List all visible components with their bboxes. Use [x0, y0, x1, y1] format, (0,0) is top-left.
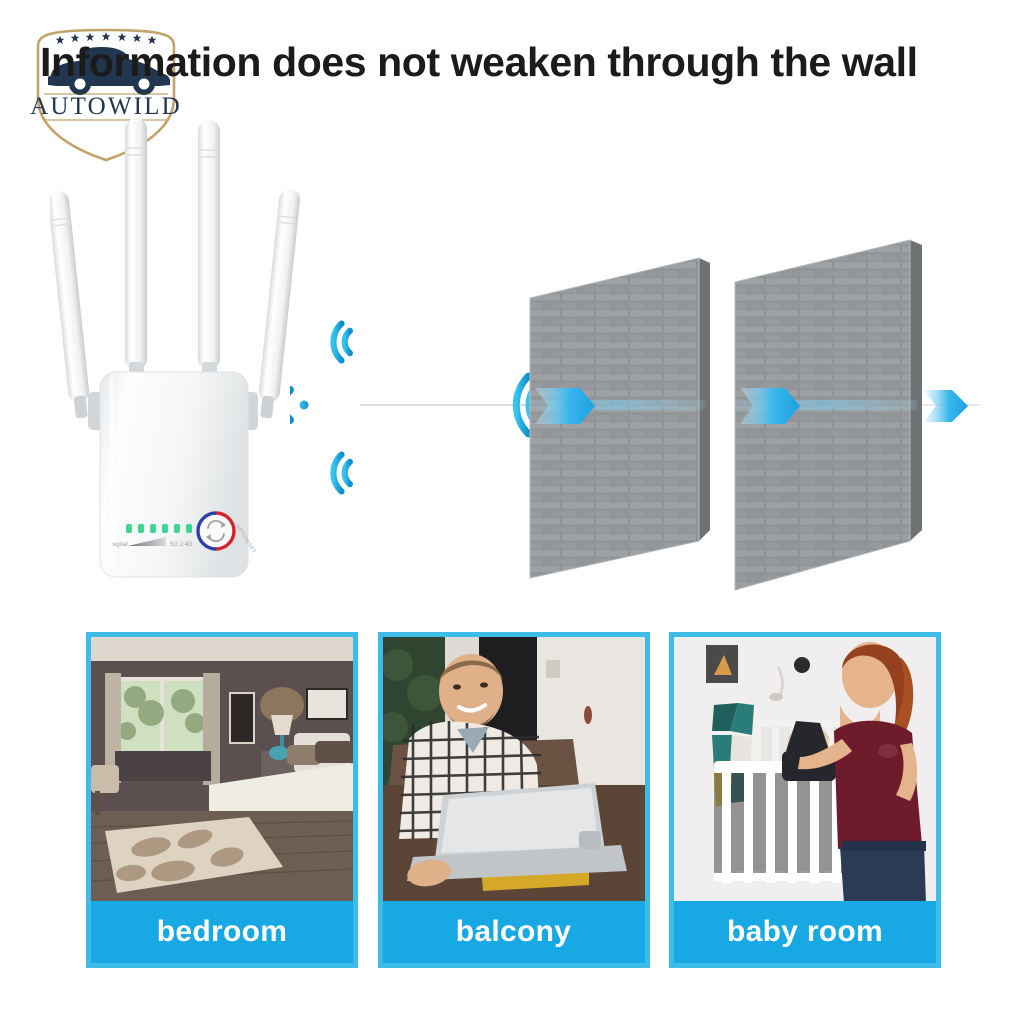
- antenna-outer-left: [50, 190, 92, 419]
- room-scenario-cards: bedroom: [86, 632, 941, 968]
- antenna-inner-right: [198, 120, 220, 380]
- product-marketing-image: AUTOWILD Information does not weaken thr…: [0, 0, 1024, 1024]
- card-label-balcony: balcony: [383, 901, 645, 963]
- balcony-photo: [383, 637, 645, 901]
- wifi-icon-upper: [333, 324, 349, 361]
- arrow-exit: [924, 390, 968, 422]
- baby-room-photo: [674, 637, 936, 901]
- wifi-icon-lower: [333, 455, 349, 492]
- wps-button[interactable]: [197, 512, 235, 550]
- bedroom-photo: [91, 637, 353, 901]
- card-bedroom[interactable]: bedroom: [86, 632, 358, 968]
- wifi-extender-product: signal 5G 2.4G WPS/RESET: [50, 110, 310, 590]
- antenna-inner-left: [125, 118, 147, 380]
- signal-label: signal: [112, 542, 128, 548]
- through-wall-signal-diagram: [290, 230, 990, 600]
- band-label: 5G 2.4G: [170, 542, 193, 548]
- card-baby-room[interactable]: baby room: [669, 632, 941, 968]
- card-balcony[interactable]: balcony: [378, 632, 650, 968]
- wifi-icon-main: [290, 368, 309, 442]
- card-label-bedroom: bedroom: [91, 901, 353, 963]
- card-label-baby-room: baby room: [674, 901, 936, 963]
- headline-text: Information does not weaken through the …: [40, 38, 1020, 86]
